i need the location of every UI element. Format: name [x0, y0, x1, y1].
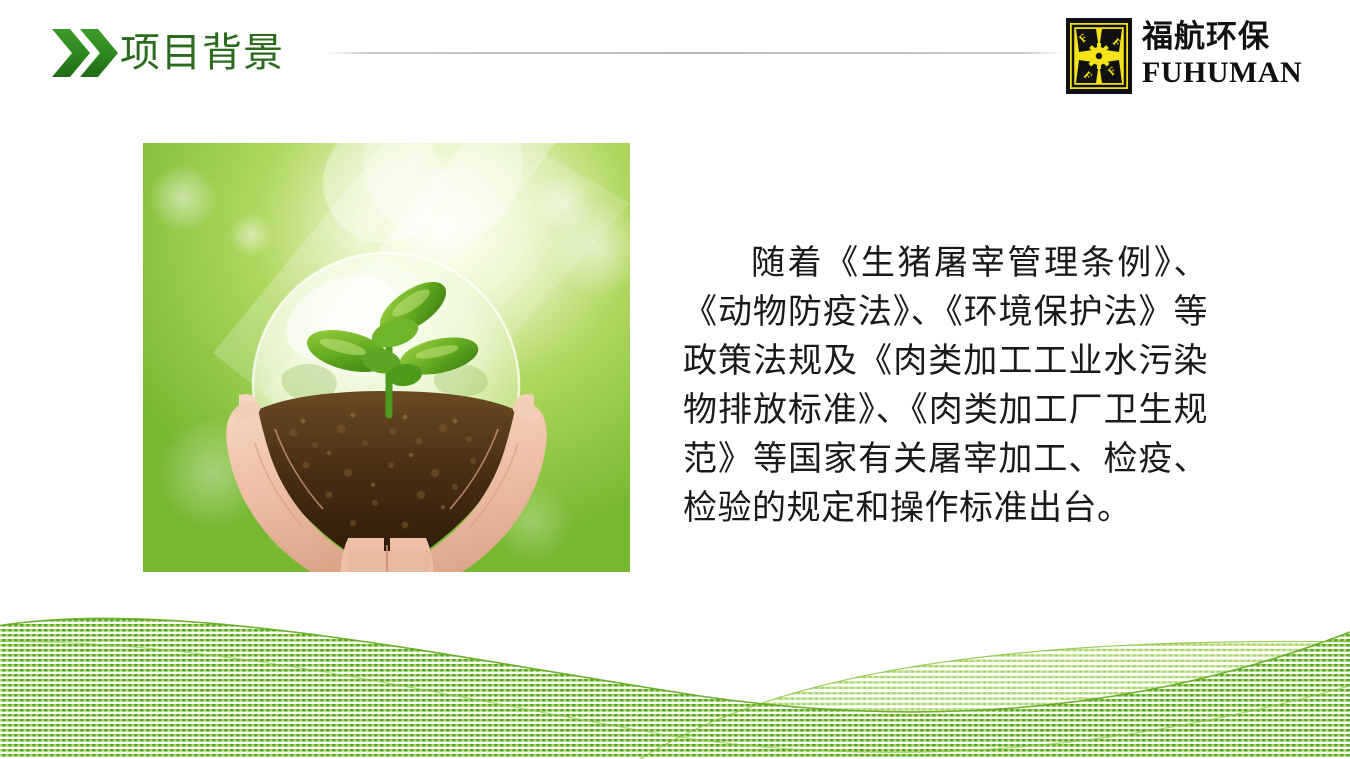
- photo-artwork: [143, 143, 630, 572]
- company-logo: F F F F: [1066, 18, 1261, 94]
- logo-wordmark: 福航环保 FUHUMAN: [1142, 18, 1327, 94]
- double-chevron-right-icon: [52, 28, 120, 78]
- slide-project-background: 项目背景 F F F F: [0, 0, 1350, 759]
- seedling-globe-photo: [143, 143, 630, 572]
- page-title: 项目背景: [120, 27, 284, 79]
- green-ribbon-waves-decoration: [0, 584, 1350, 759]
- fuhuman-emblem-icon: F F F F: [1066, 18, 1132, 94]
- header-divider-line: [325, 52, 1065, 54]
- background-paragraph: 随着《生猪屠宰管理条例》、《动物防疫法》、《环境保护法》等政策法规及《肉类加工工…: [683, 239, 1208, 533]
- logo-chinese-name: 福航环保: [1142, 18, 1327, 56]
- logo-english-name: FUHUMAN: [1142, 56, 1327, 90]
